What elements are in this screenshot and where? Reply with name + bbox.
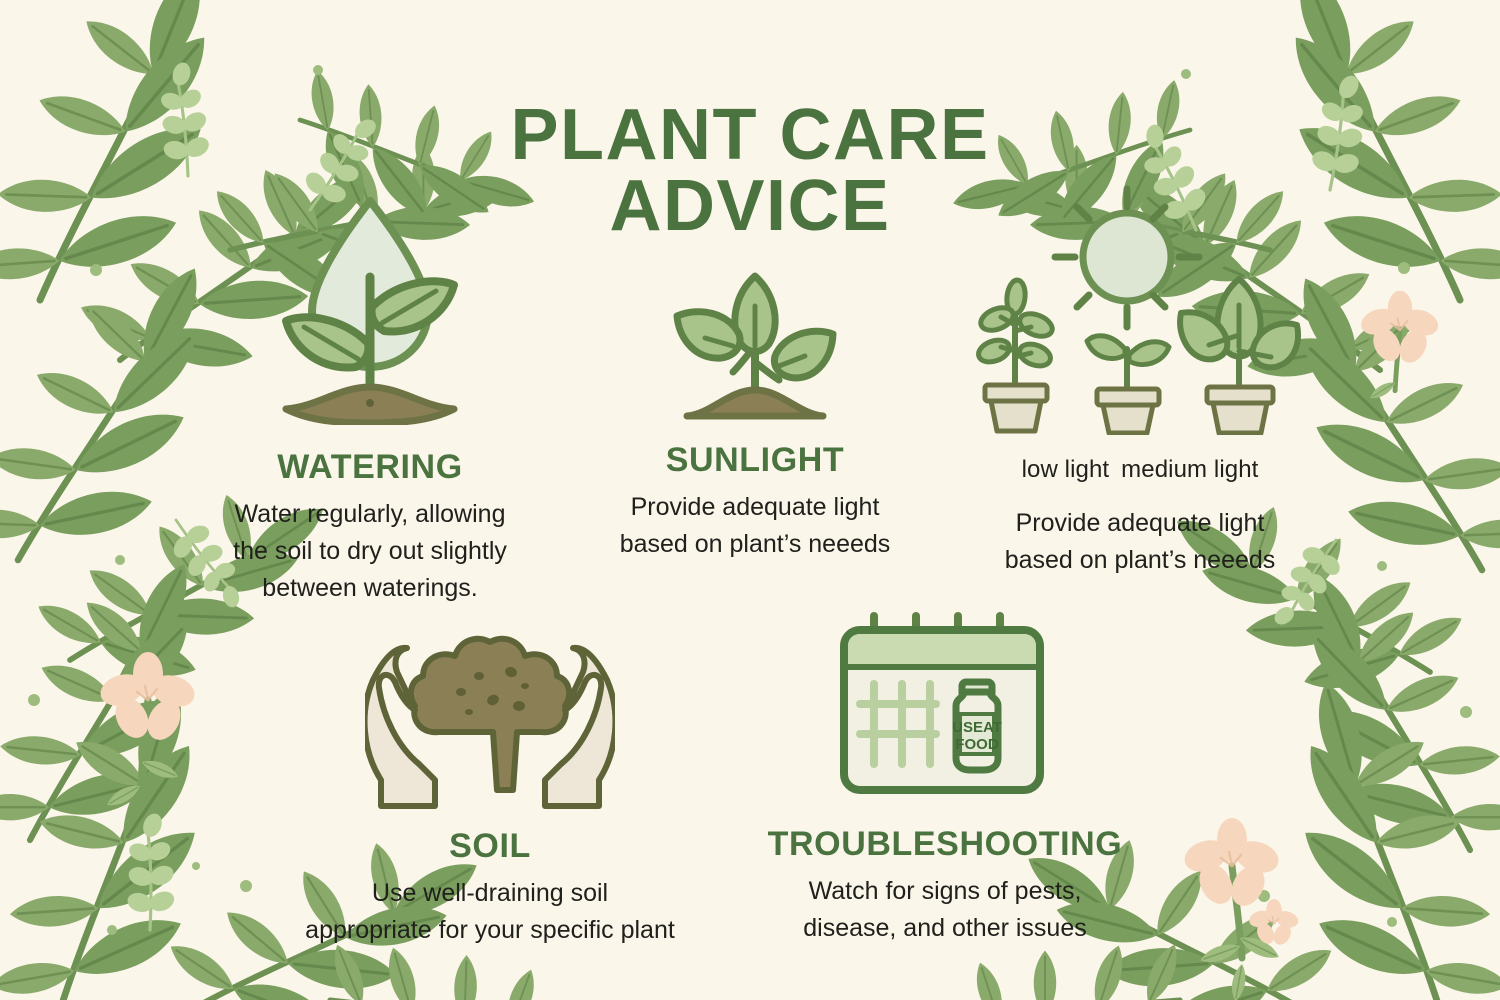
card-light-levels: low lightmedium light Provide adequate l… xyxy=(940,185,1340,579)
card-watering-body: Water regularly, allowing the soil to dr… xyxy=(150,496,590,607)
card-troubleshooting-heading: TROUBLESHOOTING xyxy=(720,826,1170,863)
hands-holding-soil-icon xyxy=(365,630,615,810)
card-troubleshooting-body: Watch for signs of pests, disease, and o… xyxy=(720,873,1170,947)
sun-with-potted-plants-icon xyxy=(975,185,1305,435)
sprout-three-leaf-icon xyxy=(665,270,845,420)
card-troubleshooting: USEAT FOOD TROUBLESHOOTING Watch for sig… xyxy=(720,608,1170,947)
card-sunlight-body: Provide adequate light based on plant’s … xyxy=(565,489,945,563)
card-light-levels-body: Provide adequate light based on plant’s … xyxy=(940,505,1340,579)
water-droplet-sprout-icon xyxy=(270,185,470,425)
card-sunlight: SUNLIGHT Provide adequate light based on… xyxy=(565,270,945,563)
card-soil-heading: SOIL xyxy=(250,828,730,865)
light-level-labels: low lightmedium light xyxy=(940,457,1340,483)
potted-plant-low-light xyxy=(976,279,1056,431)
bottle-label-line-1: USEAT xyxy=(952,719,1002,736)
label-medium-light: medium light xyxy=(1121,456,1258,483)
page-title-line-1: PLANT CARE xyxy=(511,95,990,175)
card-soil: SOIL Use well-draining soil appropriate … xyxy=(250,630,730,949)
calendar-plant-food-icon: USEAT FOOD xyxy=(830,608,1060,808)
potted-plant-bright-light xyxy=(1180,279,1298,433)
poster-canvas: PLANT CARE ADVICE WATERING Water re xyxy=(0,0,1500,1000)
plant-food-bottle-icon: USEAT FOOD xyxy=(952,682,1002,770)
card-watering-heading: WATERING xyxy=(150,449,590,486)
bottle-label-line-2: FOOD xyxy=(955,736,998,753)
label-low-light: low light xyxy=(1022,456,1110,483)
card-sunlight-heading: SUNLIGHT xyxy=(565,442,945,479)
sun-icon xyxy=(1055,189,1199,327)
potted-plant-medium-light xyxy=(1087,336,1169,433)
card-watering: WATERING Water regularly, allowing the s… xyxy=(150,185,590,607)
card-soil-body: Use well-draining soil appropriate for y… xyxy=(250,875,730,949)
